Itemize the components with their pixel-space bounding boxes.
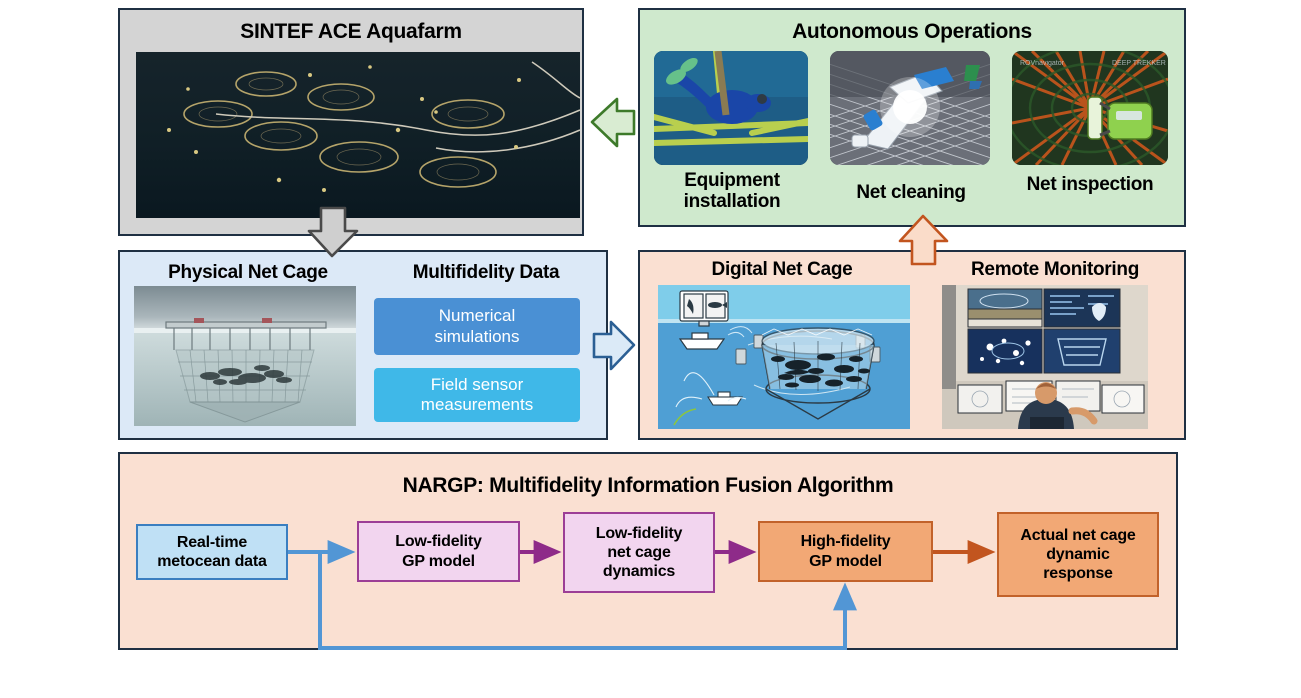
- arrow-operations-to-aquafarm: [592, 99, 634, 146]
- arrow-digital-to-operations: [900, 216, 947, 264]
- arrows-overlay: [0, 0, 1301, 698]
- arrow-aquafarm-to-physical: [309, 208, 357, 256]
- arrow-physical-to-digital: [594, 322, 634, 369]
- flow-arrow-feedback-realtime-to-hf-gp: [320, 552, 845, 648]
